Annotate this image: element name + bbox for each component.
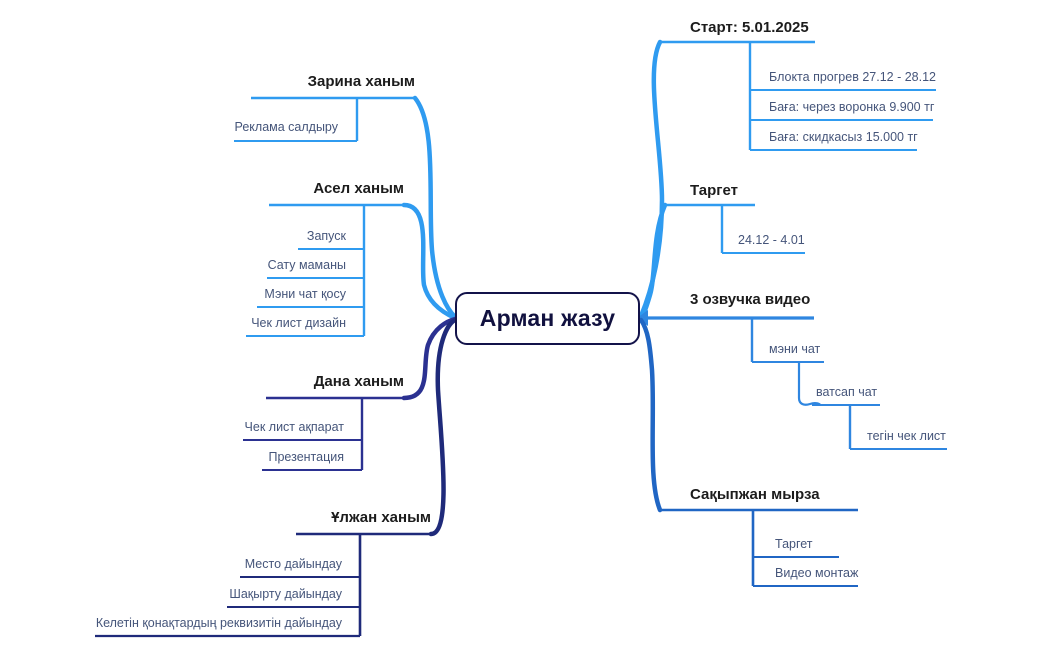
topic-asel[interactable]: Асел ханым <box>313 180 404 197</box>
trunk-start <box>641 42 662 316</box>
topic-target[interactable]: Таргет <box>690 182 738 199</box>
leaf-target-dates[interactable]: 24.12 - 4.01 <box>738 233 805 247</box>
leaf-ulzhan-invitation[interactable]: Шақырту дайындау <box>229 587 342 601</box>
topic-ulzhan[interactable]: Ұлжан ханым <box>331 509 431 526</box>
leaf-dana-presentation[interactable]: Презентация <box>268 450 344 464</box>
topic-sakypzhan[interactable]: Сақыпжан мырза <box>690 486 820 503</box>
trunk-dana <box>404 319 455 398</box>
trunk-target <box>641 205 665 317</box>
trunk-zarina <box>415 98 455 317</box>
topic-start[interactable]: Старт: 5.01.2025 <box>690 19 809 36</box>
mindmap-canvas: Арман жазу Старт: 5.01.2025 Блокта прогр… <box>0 0 1050 650</box>
leaf-asel-zapusk[interactable]: Запуск <box>307 229 346 243</box>
topic-voiceover[interactable]: 3 озвучка видео <box>690 291 810 308</box>
leaf-start-price-nodiscount[interactable]: Баға: скидкасыз 15.000 тг <box>769 130 918 144</box>
root-node-label: Арман жазу <box>480 305 615 332</box>
leaf-voiceover-free-checklist[interactable]: тегін чек лист <box>867 429 946 443</box>
leaf-start-price-funnel[interactable]: Баға: через воронка 9.900 тг <box>769 100 934 114</box>
leaf-dana-checklist-info[interactable]: Чек лист ақпарат <box>245 420 344 434</box>
leaf-asel-sales-specialist[interactable]: Сату маманы <box>268 258 346 272</box>
topic-dana[interactable]: Дана ханым <box>314 373 404 390</box>
leaf-sakypzhan-video-montage[interactable]: Видео монтаж <box>775 566 858 580</box>
trunk-asel <box>404 205 455 318</box>
leaf-ulzhan-guest-requisites[interactable]: Келетін қонақтардың реквизитін дайындау <box>96 616 342 630</box>
root-node[interactable]: Арман жазу <box>455 292 640 345</box>
trunk-ulzhan <box>431 320 455 534</box>
leaf-zarina-reklama[interactable]: Реклама салдыру <box>235 120 338 134</box>
leaf-sakypzhan-target[interactable]: Таргет <box>775 537 813 551</box>
leaf-voiceover-manychat[interactable]: мэни чат <box>769 342 820 356</box>
leaf-asel-checklist-design[interactable]: Чек лист дизайн <box>251 316 346 330</box>
topic-zarina[interactable]: Зарина ханым <box>308 73 415 90</box>
trunk-sakypzhan <box>641 320 660 510</box>
leaf-ulzhan-mesto[interactable]: Место дайындау <box>245 557 342 571</box>
leaf-asel-manychat-add[interactable]: Мэни чат қосу <box>264 287 346 301</box>
leaf-start-progrev[interactable]: Блокта прогрев 27.12 - 28.12 <box>769 70 936 84</box>
leaf-voiceover-whatsapp[interactable]: ватсап чат <box>816 385 877 399</box>
